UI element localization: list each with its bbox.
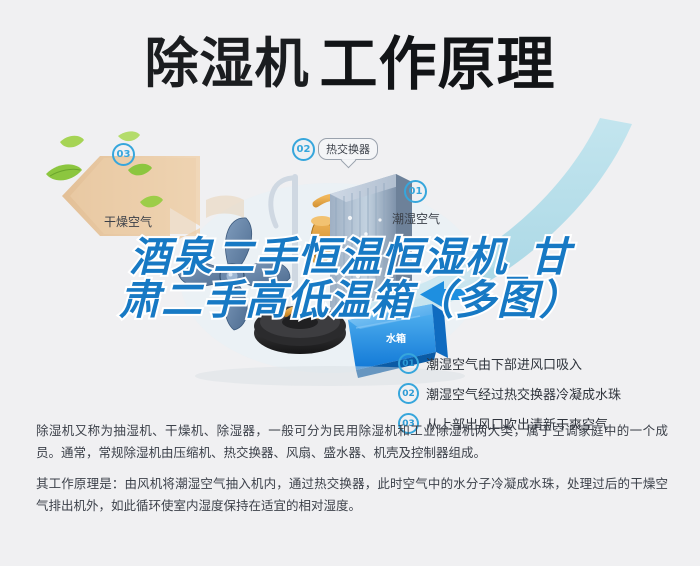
badge-01-humid-air: 01 [404, 180, 427, 203]
callout-heat-exchanger: 热交换器 [318, 138, 378, 160]
label-humid-air: 潮湿空气 [392, 210, 440, 227]
badge-02-heat-exchanger: 02 [292, 138, 315, 161]
badge-03-dry-air: 03 [112, 143, 135, 166]
legend-row: 01 潮湿空气由下部进风口吸入 [398, 353, 621, 374]
label-water-tank: 水箱 [386, 330, 406, 345]
poster-root: 除湿机 工作原理 [0, 0, 700, 566]
page-title-part2: 工作原理 [319, 35, 555, 93]
legend-badge-01: 01 [398, 353, 419, 374]
page-title-part1: 除湿机 [144, 37, 309, 91]
description-block: 除湿机又称为抽湿机、干燥机、除湿器，一般可分为民用除湿机和工业除湿机两大类，属于… [36, 420, 668, 526]
description-paragraph-2: 其工作原理是：由风机将潮湿空气抽入机内，通过热交换器，此时空气中的水分子冷凝成水… [36, 473, 668, 517]
label-dry-air: 干燥空气 [104, 213, 152, 230]
description-paragraph-1: 除湿机又称为抽湿机、干燥机、除湿器，一般可分为民用除湿机和工业除湿机两大类，属于… [36, 420, 668, 464]
page-title: 除湿机 工作原理 [0, 22, 700, 106]
legend-text-01: 潮湿空气由下部进风口吸入 [426, 354, 582, 373]
legend-row: 02 潮湿空气经过热交换器冷凝成水珠 [398, 383, 621, 404]
dehumidifier-diagram: 03 干燥空气 02 热交换器 01 潮湿空气 水箱 01 潮湿空气由下部进风口… [0, 108, 700, 388]
legend-text-02: 潮湿空气经过热交换器冷凝成水珠 [426, 384, 621, 403]
compressor [254, 306, 346, 354]
legend-badge-02: 02 [398, 383, 419, 404]
